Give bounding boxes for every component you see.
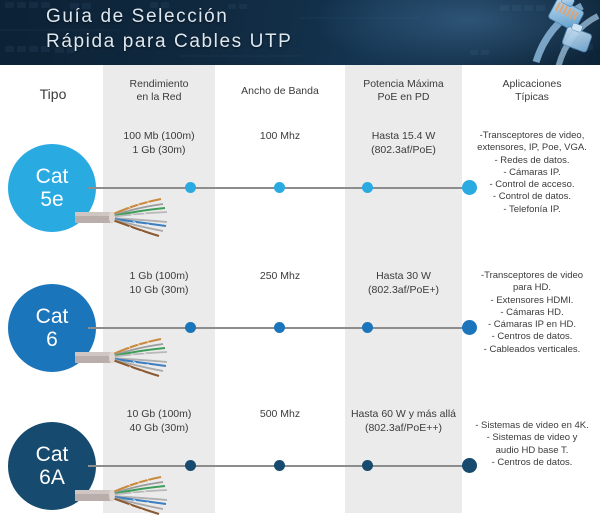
table-row: Cat 6A 10 Gb ( bbox=[0, 408, 600, 513]
connector-dot bbox=[185, 182, 196, 193]
cell-potencia: Hasta 15.4 W (802.3af/PoE) bbox=[345, 130, 462, 157]
cat-badge-word: Cat bbox=[36, 443, 69, 466]
cell-potencia-l1: Hasta 60 W y más allá bbox=[351, 408, 456, 420]
aplicacion-line: - Centros de datos. bbox=[466, 457, 598, 469]
column-header-potencia-l1: Potencia Máxima bbox=[363, 78, 444, 90]
column-header-rendimiento: Rendimiento en la Red bbox=[103, 78, 215, 104]
aplicacion-line: - Sistemas de video y bbox=[466, 432, 598, 444]
page-title: Guía de Selección Rápida para Cables UTP bbox=[46, 4, 292, 54]
page-title-line1: Guía de Selección bbox=[46, 6, 228, 27]
aplicacion-line: - Cámaras IP en HD. bbox=[466, 319, 598, 331]
connector-dot bbox=[274, 460, 285, 471]
column-header-rendimiento-l1: Rendimiento bbox=[130, 78, 189, 90]
cell-potencia: Hasta 30 W (802.3af/PoE+) bbox=[345, 270, 462, 297]
connector-dot bbox=[362, 182, 373, 193]
aplicacion-line: - Centros de datos. bbox=[466, 331, 598, 343]
page-title-line2: Rápida para Cables UTP bbox=[46, 29, 292, 54]
column-header-ancho-label: Ancho de Banda bbox=[241, 85, 319, 97]
connector-dot bbox=[274, 322, 285, 333]
table-row: Cat 6 1 Gb (10 bbox=[0, 268, 600, 398]
column-header-tipo-label: Tipo bbox=[40, 86, 67, 102]
cat-badge-word: Cat bbox=[36, 165, 69, 188]
aplicacion-line: -Transceptores de video, bbox=[466, 130, 598, 142]
cell-ancho-de-banda: 500 Mhz bbox=[218, 408, 342, 422]
aplicacion-line: audio HD base T. bbox=[466, 445, 598, 457]
connector-dot bbox=[362, 460, 373, 471]
cell-rendimiento: 10 Gb (100m) 40 Gb (30m) bbox=[103, 408, 215, 435]
utp-cable-icon bbox=[75, 194, 183, 240]
cell-potencia-l2: (802.3af/PoE++) bbox=[365, 422, 442, 434]
cell-ancho-value: 500 Mhz bbox=[260, 408, 300, 420]
column-header-rendimiento-l2: en la Red bbox=[137, 91, 182, 103]
column-header-aplicaciones-l2: Típicas bbox=[515, 91, 549, 103]
cell-aplicaciones: -Transceptores de video, extensores, IP,… bbox=[466, 130, 598, 216]
column-header-potencia-l2: PoE en PD bbox=[378, 91, 430, 103]
header-banner: Guía de Selección Rápida para Cables UTP bbox=[0, 0, 600, 65]
column-header-potencia: Potencia Máxima PoE en PD bbox=[345, 78, 462, 104]
column-header-aplicaciones: Aplicaciones Típicas bbox=[466, 78, 598, 104]
cell-aplicaciones: - Sistemas de video en 4K. - Sistemas de… bbox=[466, 420, 598, 469]
connector-dot bbox=[362, 322, 373, 333]
column-header-aplicaciones-l1: Aplicaciones bbox=[503, 78, 562, 90]
column-header-ancho-de-banda: Ancho de Banda bbox=[218, 85, 342, 98]
aplicacion-line: - Redes de datos. bbox=[466, 155, 598, 167]
cell-aplicaciones: -Transceptores de video para HD. - Exten… bbox=[466, 270, 598, 356]
connector-dot bbox=[185, 322, 196, 333]
cell-rendimiento-l1: 10 Gb (100m) bbox=[127, 408, 192, 420]
cell-potencia-l1: Hasta 15.4 W bbox=[372, 130, 436, 142]
cell-ancho-de-banda: 250 Mhz bbox=[218, 270, 342, 284]
column-header-tipo: Tipo bbox=[8, 88, 98, 101]
cat-badge-number: 6 bbox=[46, 328, 58, 351]
cell-ancho-value: 100 Mhz bbox=[260, 130, 300, 142]
aplicacion-line: - Control de datos. bbox=[466, 191, 598, 203]
aplicacion-line: - Cámaras HD. bbox=[466, 307, 598, 319]
aplicacion-line: -Transceptores de video bbox=[466, 270, 598, 282]
aplicacion-line: - Cámaras IP. bbox=[466, 167, 598, 179]
aplicacion-line: para HD. bbox=[466, 282, 598, 294]
cell-potencia-l2: (802.3af/PoE+) bbox=[368, 284, 439, 296]
aplicacion-line: - Cableados verticales. bbox=[466, 344, 598, 356]
cell-ancho-value: 250 Mhz bbox=[260, 270, 300, 282]
utp-cable-icon bbox=[75, 334, 183, 380]
table-row: Cat 5e 100 Mb bbox=[0, 128, 600, 258]
cat-badge-number: 5e bbox=[40, 188, 63, 211]
aplicacion-line: - Control de acceso. bbox=[466, 179, 598, 191]
connector-dot bbox=[185, 460, 196, 471]
aplicacion-line: extensores, IP, Poe, VGA. bbox=[466, 142, 598, 154]
aplicacion-line: - Telefonía IP. bbox=[466, 204, 598, 216]
cell-rendimiento: 1 Gb (100m) 10 Gb (30m) bbox=[103, 270, 215, 297]
cell-potencia-l1: Hasta 30 W bbox=[376, 270, 431, 282]
cell-rendimiento-l1: 1 Gb (100m) bbox=[130, 270, 189, 282]
cell-rendimiento-l2: 40 Gb (30m) bbox=[130, 422, 189, 434]
utp-cable-icon bbox=[75, 472, 183, 518]
cell-rendimiento-l1: 100 Mb (100m) bbox=[123, 130, 194, 142]
cat-badge-number: 6A bbox=[39, 466, 65, 489]
aplicacion-line: - Sistemas de video en 4K. bbox=[466, 420, 598, 432]
cell-rendimiento: 100 Mb (100m) 1 Gb (30m) bbox=[103, 130, 215, 157]
cell-ancho-de-banda: 100 Mhz bbox=[218, 130, 342, 144]
connector-dot bbox=[274, 182, 285, 193]
cell-potencia: Hasta 60 W y más allá (802.3af/PoE++) bbox=[345, 408, 462, 435]
infographic-root: Guía de Selección Rápida para Cables UTP… bbox=[0, 0, 600, 513]
aplicacion-line: - Extensores HDMI. bbox=[466, 295, 598, 307]
ethernet-plug-icon bbox=[440, 0, 600, 65]
cell-rendimiento-l2: 10 Gb (30m) bbox=[130, 284, 189, 296]
cell-rendimiento-l2: 1 Gb (30m) bbox=[132, 144, 185, 156]
cat-badge-word: Cat bbox=[36, 305, 69, 328]
cell-potencia-l2: (802.3af/PoE) bbox=[371, 144, 436, 156]
